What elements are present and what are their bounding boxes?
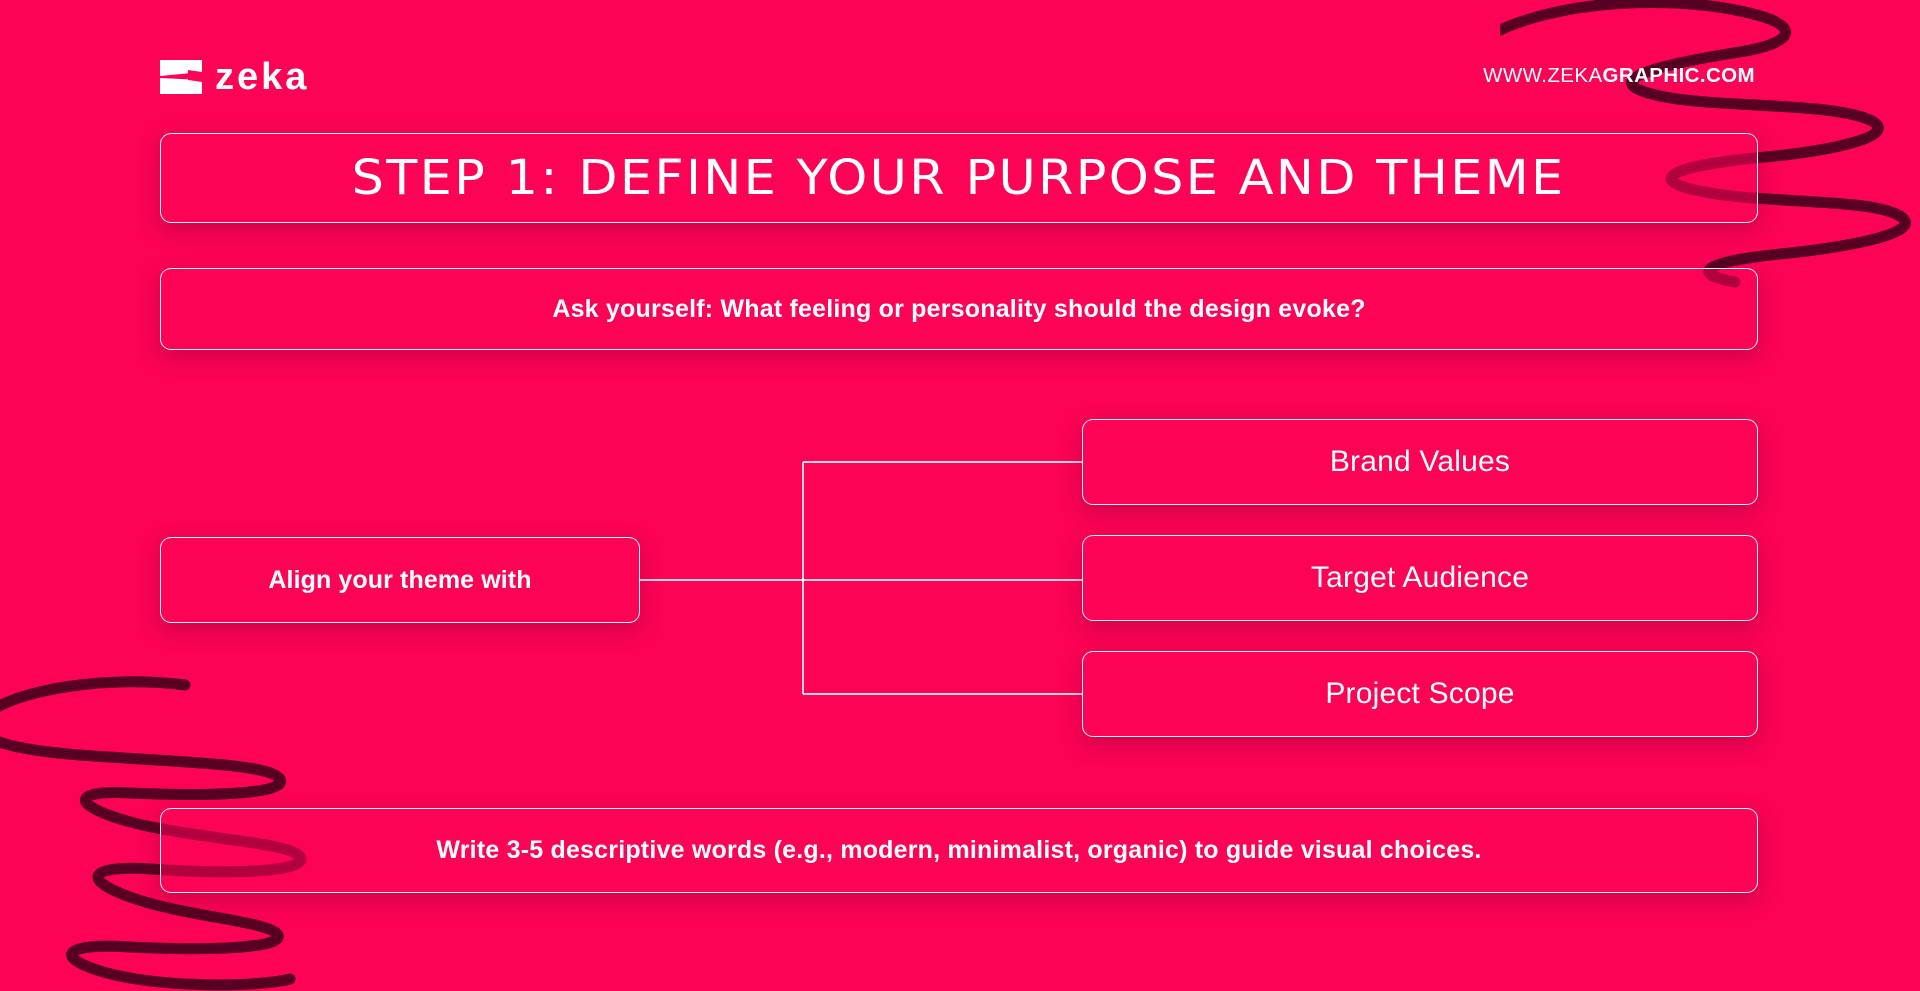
mindmap-leaf-node[interactable]: Project Scope — [1082, 651, 1758, 737]
page-title: STEP 1: DEFINE YOUR PURPOSE AND THEME — [352, 150, 1566, 206]
subtitle-text: Ask yourself: What feeling or personalit… — [552, 295, 1365, 324]
site-url-light: WWW.ZEKA — [1483, 64, 1602, 87]
footer-text: Write 3-5 descriptive words (e.g., moder… — [436, 836, 1481, 865]
subtitle-banner: Ask yourself: What feeling or personalit… — [160, 268, 1758, 350]
mindmap-leaf-label: Brand Values — [1330, 445, 1510, 479]
footer-banner: Write 3-5 descriptive words (e.g., moder… — [160, 808, 1758, 893]
site-url-bold: GRAPHIC.COM — [1603, 64, 1755, 87]
mindmap-root-node[interactable]: Align your theme with — [160, 537, 640, 623]
mindmap-leaf-node[interactable]: Target Audience — [1082, 535, 1758, 621]
brand-wordmark: zeka — [215, 58, 309, 96]
mindmap-leaf-label: Project Scope — [1325, 677, 1514, 711]
brand-logo[interactable]: zeka — [160, 58, 309, 96]
mindmap-leaf-node[interactable]: Brand Values — [1082, 419, 1758, 505]
mindmap-leaf-label: Target Audience — [1311, 561, 1529, 595]
page-header: zeka WWW.ZEKAGRAPHIC.COM — [0, 0, 1920, 120]
site-url[interactable]: WWW.ZEKAGRAPHIC.COM — [1483, 66, 1755, 87]
step-title-banner: STEP 1: DEFINE YOUR PURPOSE AND THEME — [160, 133, 1758, 223]
zeka-z-mark-icon — [160, 60, 202, 94]
mindmap-root-label: Align your theme with — [268, 566, 531, 595]
